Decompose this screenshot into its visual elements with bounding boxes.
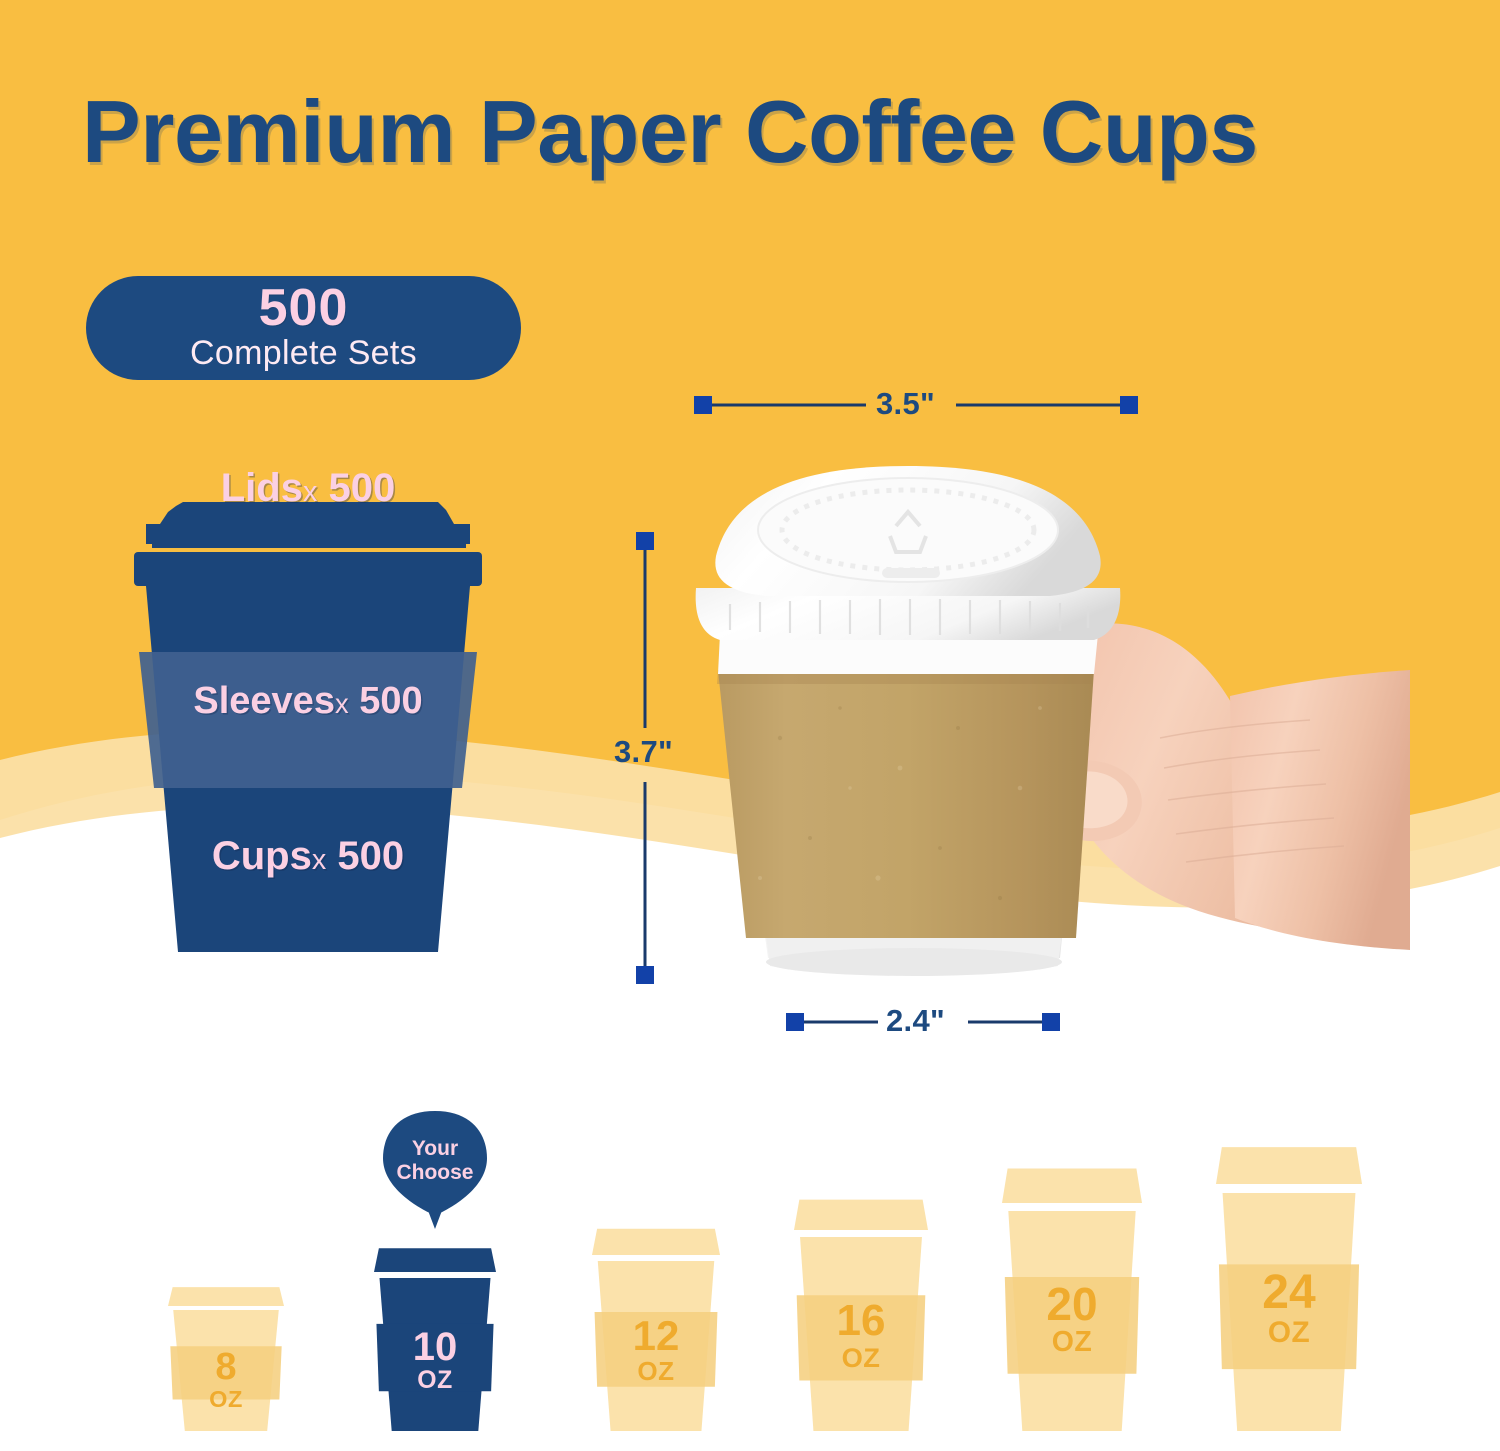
dim-height-marker-top [636,532,654,550]
dimension-top-width: 3.5" [876,386,935,422]
size-option-16oz[interactable]: 16OZ [794,1193,928,1431]
size-cup-shape [592,1223,720,1431]
callout-line-1: Your [383,1137,487,1161]
size-cup-shape [168,1283,284,1431]
dimension-height: 3.7" [614,734,673,770]
dim-bottom-marker-left [786,1013,804,1031]
size-cup-shape [374,1243,496,1431]
callout-line-2: Choose [383,1161,487,1185]
callout-text: YourChoose [383,1137,487,1184]
dim-bottom-marker-right [1042,1013,1060,1031]
size-option-8oz[interactable]: 8OZ [168,1283,284,1431]
size-option-20oz[interactable]: 20OZ [1002,1161,1142,1431]
dim-top-marker-right [1120,396,1138,414]
size-option-12oz[interactable]: 12OZ [592,1223,720,1431]
size-cup-shape [794,1193,928,1431]
size-selector-row: 8OZ10OZYourChoose12OZ16OZ20OZ24OZ [0,1150,1500,1451]
size-option-10oz[interactable]: 10OZYourChoose [374,1243,496,1431]
dim-top-marker-left [694,396,712,414]
dimension-bottom-width: 2.4" [886,1003,945,1039]
size-option-24oz[interactable]: 24OZ [1216,1139,1362,1431]
size-cup-shape [1002,1161,1142,1431]
your-choose-callout: YourChoose [383,1111,487,1229]
infographic-page: Premium Paper Coffee Cups 500 Complete S… [0,0,1500,1451]
size-cup-shape [1216,1139,1362,1431]
dim-height-marker-bottom [636,966,654,984]
